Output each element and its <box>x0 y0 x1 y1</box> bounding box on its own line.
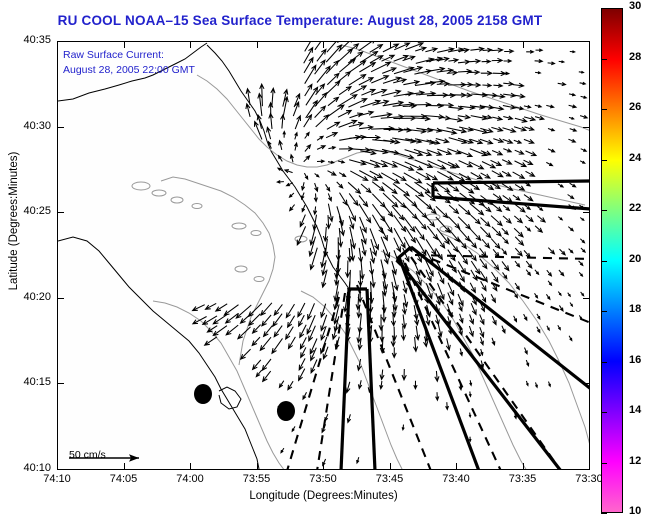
current-vector <box>449 205 458 213</box>
current-vector <box>514 216 522 223</box>
current-vector <box>380 370 384 380</box>
current-vector <box>262 359 271 370</box>
x-axis-tick-label: 73:45 <box>367 473 413 485</box>
x-axis-tick-top <box>523 42 524 48</box>
current-vector <box>438 325 442 337</box>
current-vector <box>481 218 490 227</box>
current-vector <box>302 182 305 190</box>
current-vector <box>570 51 575 53</box>
current-vector <box>579 261 583 266</box>
current-vector <box>274 326 282 337</box>
current-vector <box>326 215 330 228</box>
current-vector <box>548 149 555 152</box>
current-vector <box>415 160 433 168</box>
current-vector <box>535 72 540 74</box>
current-vector <box>581 248 585 252</box>
current-vector <box>547 270 552 276</box>
current-vector <box>493 194 502 200</box>
current-vector <box>193 305 205 311</box>
current-vector <box>308 303 315 319</box>
x-axis-tick <box>523 463 524 469</box>
current-vector <box>300 215 305 227</box>
y-axis-title: Latitude (Degrees:Minutes) <box>8 121 20 321</box>
current-vector <box>514 228 523 237</box>
current-vector <box>547 326 549 330</box>
current-vector <box>382 305 386 322</box>
current-vector <box>262 315 271 326</box>
current-vector <box>503 205 509 210</box>
current-vector <box>492 338 495 345</box>
current-vector <box>503 139 513 143</box>
current-vector <box>425 48 437 52</box>
current-vector <box>361 184 371 193</box>
current-vector <box>304 115 312 127</box>
current-vector <box>293 102 299 116</box>
x-axis-tick <box>589 463 590 469</box>
colorbar-tick-label: 12 <box>629 455 641 467</box>
colorbar-tick <box>601 59 607 60</box>
current-vector <box>213 315 227 324</box>
current-vector <box>253 325 261 333</box>
current-vector <box>525 348 528 354</box>
current-vector <box>558 217 562 220</box>
current-vector <box>448 283 454 296</box>
current-vector <box>514 127 526 131</box>
current-vector <box>548 128 554 131</box>
current-vector <box>471 215 480 224</box>
current-vector <box>311 360 317 373</box>
current-vector <box>526 50 533 53</box>
map-plot-area[interactable]: Raw Surface Current: August 28, 2005 22:… <box>57 41 590 470</box>
current-vector <box>502 237 508 243</box>
current-vector <box>359 78 373 85</box>
current-vector <box>514 316 517 322</box>
current-vector <box>504 50 513 54</box>
current-vector <box>216 304 227 311</box>
x-axis-tick <box>257 463 258 469</box>
current-vector <box>358 248 362 262</box>
current-vector <box>492 316 496 324</box>
current-vector <box>524 314 527 320</box>
current-vector <box>470 47 483 51</box>
current-vector <box>526 215 533 221</box>
current-vector <box>580 82 586 84</box>
y-axis-tick <box>58 212 64 213</box>
current-vector <box>299 315 305 326</box>
current-vector <box>305 132 309 138</box>
current-vector <box>482 84 491 88</box>
y-axis-tick-right <box>583 41 589 42</box>
current-vector <box>362 135 380 139</box>
current-vector <box>317 160 324 163</box>
current-vector <box>524 105 531 108</box>
current-vector <box>359 42 376 51</box>
current-vector <box>382 183 396 194</box>
current-vector <box>303 392 307 399</box>
current-vector <box>328 161 334 163</box>
colorbar-tick-label: 22 <box>629 202 641 214</box>
current-vector <box>491 216 502 226</box>
current-vector <box>480 248 487 257</box>
scale-bar-arrow-icon <box>63 449 173 465</box>
y-axis-tick-right <box>583 469 589 470</box>
current-vector <box>482 239 489 248</box>
current-vector <box>502 326 505 333</box>
current-vector <box>279 156 283 162</box>
current-vector <box>482 294 486 302</box>
current-vector <box>349 193 358 205</box>
current-vector <box>525 226 530 231</box>
current-vector <box>502 228 508 234</box>
current-vector <box>426 216 435 226</box>
current-vector <box>446 338 450 350</box>
current-vector <box>568 139 575 142</box>
current-vector <box>537 314 540 319</box>
current-vector <box>535 382 537 387</box>
colorbar-tick-label: 20 <box>629 253 641 265</box>
current-vector <box>470 83 480 87</box>
current-vector <box>350 227 356 248</box>
current-vector <box>415 326 419 340</box>
current-vector <box>537 327 540 333</box>
current-vector <box>302 205 305 212</box>
colorbar-tick <box>601 261 607 262</box>
coastline-north <box>58 43 207 101</box>
current-vector <box>205 337 217 345</box>
surface-current-vector-field <box>193 42 589 465</box>
colorbar-tick-label: 16 <box>629 354 641 366</box>
y-axis-tick-right <box>583 212 589 213</box>
current-vector <box>310 339 317 354</box>
figure-title: RU COOL NOAA–15 Sea Surface Temperature:… <box>0 13 600 28</box>
current-vector <box>459 205 471 215</box>
current-vector <box>513 83 524 87</box>
shoal-outline-1 <box>152 190 166 196</box>
current-vector <box>548 281 551 285</box>
current-vector <box>304 173 307 179</box>
current-vector <box>281 115 285 129</box>
current-vector <box>471 303 476 314</box>
current-vector <box>482 60 491 64</box>
y-axis-tick-label: 40:15 <box>5 376 51 388</box>
current-vector <box>481 349 483 355</box>
x-axis-tick-label: 74:05 <box>101 473 147 485</box>
current-vector <box>326 133 337 138</box>
current-vector <box>292 426 295 431</box>
colorbar-tick-label: 28 <box>629 51 641 63</box>
current-vector <box>514 140 521 143</box>
current-vector <box>503 149 511 152</box>
y-axis-tick-right <box>583 383 589 384</box>
current-vector <box>346 382 350 393</box>
colorbar-tick <box>601 513 607 514</box>
current-vector <box>491 294 495 302</box>
current-vector <box>470 380 472 385</box>
current-vector <box>246 104 250 117</box>
current-vector <box>290 205 295 211</box>
current-vector <box>305 84 312 96</box>
sst-map-figure: RU COOL NOAA–15 Sea Surface Temperature:… <box>0 0 651 518</box>
current-vector <box>286 304 294 317</box>
current-vector <box>470 314 474 323</box>
current-vector <box>382 68 396 74</box>
current-vector <box>287 183 293 186</box>
current-vector <box>471 173 482 179</box>
current-vector <box>370 45 383 53</box>
current-vector <box>393 173 406 181</box>
current-vector <box>569 117 574 119</box>
current-vector <box>288 381 293 390</box>
current-vector <box>383 44 399 52</box>
current-vector <box>526 171 535 176</box>
current-vector <box>437 237 445 248</box>
current-vector <box>328 171 336 175</box>
current-vector <box>513 172 525 179</box>
current-vector <box>372 194 385 207</box>
current-vector <box>515 248 522 256</box>
current-vector <box>337 182 343 188</box>
current-vector <box>535 60 543 63</box>
current-vector <box>264 326 273 337</box>
current-vector <box>346 261 350 278</box>
current-vector <box>526 261 532 268</box>
current-vector <box>503 82 513 86</box>
y-axis-tick-label: 40:10 <box>5 462 51 474</box>
current-vector <box>579 272 582 276</box>
current-vector <box>470 59 480 63</box>
current-vector <box>558 292 561 296</box>
current-vector <box>480 227 490 238</box>
current-vector <box>503 128 516 133</box>
current-vector <box>449 138 467 144</box>
current-vector <box>226 325 238 335</box>
current-vector <box>403 281 407 293</box>
y-axis-tick-right <box>583 127 589 128</box>
x-axis-tick-label: 73:50 <box>300 473 346 485</box>
current-vector <box>524 250 530 257</box>
current-vector <box>569 105 576 108</box>
current-vector <box>246 89 250 105</box>
current-vector <box>394 228 405 247</box>
current-vector <box>480 337 483 345</box>
current-vector <box>524 195 533 201</box>
current-vector <box>526 151 537 156</box>
current-vector <box>338 161 344 164</box>
colorbar-tick <box>601 463 607 464</box>
current-vector <box>314 193 317 201</box>
current-vector <box>492 260 499 270</box>
current-vector <box>503 216 511 223</box>
colorbar-tick <box>601 210 607 211</box>
current-vector <box>535 293 538 298</box>
current-vector <box>328 97 339 105</box>
current-vector <box>360 217 367 232</box>
colorbar-tick <box>601 362 607 363</box>
x-axis-tick-top <box>190 42 191 48</box>
current-vector <box>492 58 503 62</box>
x-axis-tick-top <box>323 42 324 48</box>
current-vector <box>460 349 463 356</box>
current-vector <box>258 94 262 116</box>
current-vector <box>269 114 273 129</box>
current-vector <box>380 381 383 389</box>
current-vector <box>515 283 519 289</box>
current-vector <box>558 184 563 187</box>
current-vector <box>358 380 361 388</box>
current-vector <box>348 182 360 193</box>
current-vector <box>515 237 523 246</box>
current-vector <box>415 47 426 51</box>
current-vector <box>415 103 431 107</box>
x-axis-tick <box>456 463 457 469</box>
x-axis-tick <box>190 463 191 469</box>
colorbar-tick-label: 18 <box>629 303 641 315</box>
current-vector <box>327 122 340 129</box>
current-vector <box>568 195 574 199</box>
current-vector <box>580 239 584 243</box>
current-vector <box>524 160 533 164</box>
x-axis-tick-top <box>589 42 590 48</box>
current-vector <box>405 162 423 170</box>
current-vector <box>526 360 528 366</box>
current-vector <box>279 141 283 150</box>
x-axis-tick-top <box>57 42 58 48</box>
current-vector <box>436 392 439 400</box>
current-vector <box>316 115 329 127</box>
current-vector <box>492 171 503 177</box>
current-vector <box>315 60 325 74</box>
radar-beam-solid-5 <box>399 257 479 469</box>
current-vector <box>326 45 341 62</box>
current-vector <box>481 71 492 75</box>
y-axis-tick-right <box>583 298 589 299</box>
current-vector <box>339 120 357 127</box>
current-vector <box>381 173 399 183</box>
current-vector <box>404 294 408 307</box>
current-vector <box>402 369 406 380</box>
current-vector <box>538 206 543 210</box>
current-vector <box>285 170 293 173</box>
current-vector <box>558 325 561 329</box>
current-vector <box>349 160 366 165</box>
current-vector <box>569 249 573 253</box>
current-vector <box>315 106 326 117</box>
bathymetry-contour-30m <box>301 291 403 469</box>
current-vector <box>359 126 373 130</box>
current-vector <box>481 173 490 178</box>
current-vector <box>549 382 551 387</box>
current-vector <box>515 261 520 267</box>
current-vector <box>436 248 443 259</box>
current-vector <box>338 111 351 118</box>
current-vector <box>581 96 587 98</box>
current-vector <box>493 84 502 88</box>
current-vector <box>581 149 587 152</box>
current-vector <box>427 226 437 239</box>
current-vector <box>393 184 409 196</box>
current-vector <box>482 162 495 168</box>
current-vector <box>328 147 335 150</box>
current-vector <box>469 413 471 417</box>
x-axis-tick-label: 73:35 <box>500 473 546 485</box>
current-vector <box>492 116 502 120</box>
current-vector <box>300 325 306 338</box>
radar-beam-solid-7 <box>367 289 375 469</box>
current-vector <box>581 292 584 296</box>
current-vector <box>402 425 404 430</box>
current-vector <box>459 314 463 323</box>
current-vector <box>314 206 317 214</box>
current-vector <box>383 205 392 216</box>
colorbar-tick <box>601 160 607 161</box>
current-vector <box>315 174 319 177</box>
colorbar-tick-label: 24 <box>629 152 641 164</box>
shoal-outline-9 <box>235 266 247 272</box>
x-axis-tick <box>390 463 391 469</box>
current-vector <box>526 381 528 386</box>
current-vector <box>295 133 298 140</box>
x-axis-tick-label: 73:40 <box>433 473 479 485</box>
bathymetry-contour-inner <box>161 177 275 365</box>
current-vector <box>335 337 339 349</box>
current-vector <box>435 315 439 325</box>
current-vector <box>328 204 333 222</box>
current-vector <box>350 171 367 181</box>
current-vector <box>515 161 527 167</box>
current-vector <box>515 150 524 154</box>
current-vector <box>435 371 439 381</box>
current-vector <box>416 217 426 229</box>
current-vector <box>537 216 545 222</box>
current-vector <box>458 60 470 64</box>
current-vector <box>481 204 491 212</box>
colorbar-tick-label: 10 <box>629 505 641 517</box>
current-vector <box>460 184 473 193</box>
current-vector <box>298 303 305 317</box>
current-vector <box>459 228 470 241</box>
y-axis-tick <box>58 383 64 384</box>
current-vector <box>481 281 486 290</box>
current-vector <box>515 107 523 110</box>
current-vector <box>300 337 306 348</box>
current-vector <box>404 173 422 183</box>
current-vector <box>413 337 417 351</box>
current-vector <box>310 227 316 245</box>
current-vector <box>558 82 566 85</box>
shoal-outline-0 <box>132 182 150 190</box>
current-vector <box>301 347 306 357</box>
current-vector <box>515 118 527 122</box>
current-vector <box>535 105 541 108</box>
current-vector <box>256 370 261 377</box>
current-vector <box>560 249 566 255</box>
current-vector <box>504 60 512 63</box>
current-vector <box>491 48 502 52</box>
current-vector <box>359 196 368 207</box>
current-vector <box>290 193 294 197</box>
current-vector <box>392 151 414 158</box>
current-vector <box>469 392 471 397</box>
current-vector <box>491 127 502 131</box>
current-vector <box>224 305 238 315</box>
current-vector <box>315 183 318 191</box>
current-vector <box>535 226 542 232</box>
current-vector <box>536 49 543 52</box>
current-vector <box>470 240 477 248</box>
current-vector <box>546 162 552 165</box>
y-axis-tick <box>58 469 64 470</box>
current-vector <box>580 115 587 118</box>
